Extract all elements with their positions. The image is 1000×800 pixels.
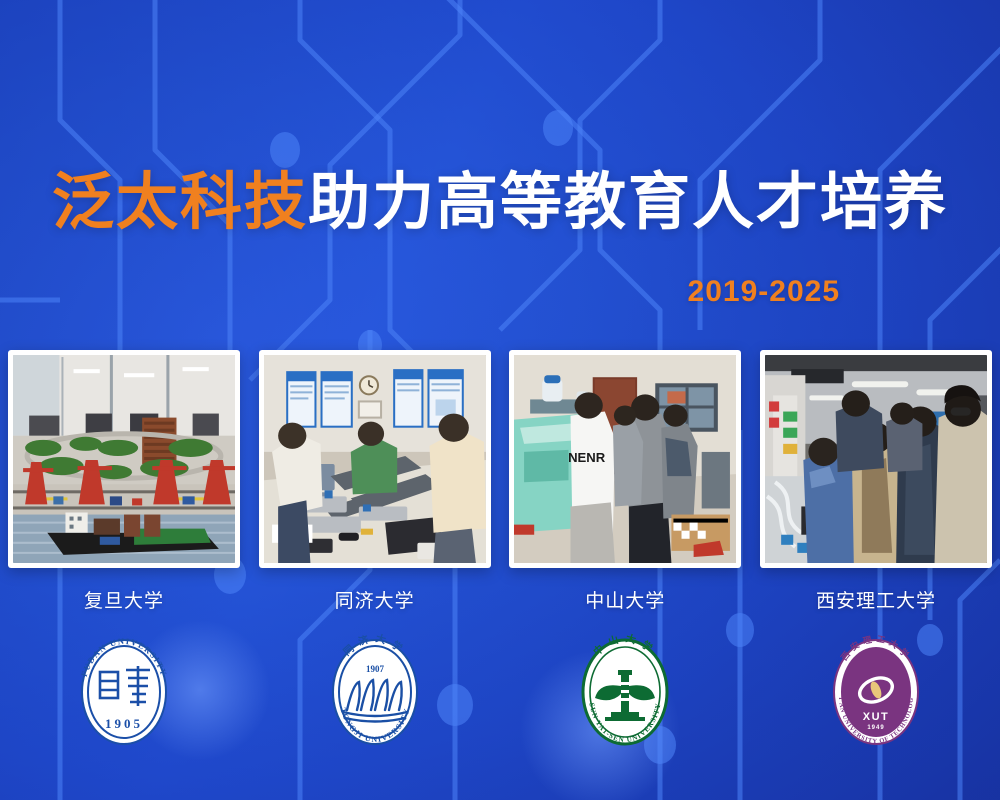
photo-card[interactable]: 复旦大学 [8,350,240,613]
logo-slot: 西安理工大学 XI'AN UNIVERSITY OF TECHNOLOGY XU… [760,632,992,752]
photo-caption: 西安理工大学 [760,586,992,613]
svg-text:1907: 1907 [366,664,385,674]
photo-card[interactable]: 同济大学 [259,350,491,613]
svg-text:1905: 1905 [105,716,143,731]
photo-caption: 同济大学 [259,586,491,613]
photo-frame [259,350,491,568]
svg-text:1949: 1949 [867,725,884,731]
poster-canvas: 泛太科技助力高等教育人才培养 2019-2025 [0,0,1000,800]
photo-card[interactable]: NENR [509,350,741,613]
subtitle-year-range: 2019-2025 [688,275,840,309]
photo-sysu-autonomous-car: NENR [514,355,736,563]
logo-xian-university-of-technology: 西安理工大学 XI'AN UNIVERSITY OF TECHNOLOGY XU… [822,632,930,752]
title-block: 泛太科技助力高等教育人才培养 [0,172,1000,234]
page-title: 泛太科技助力高等教育人才培养 [0,172,1000,234]
photo-tongji-lab [264,355,486,563]
photo-card-row: 复旦大学 [0,350,1000,613]
photo-fudan-port-model [13,355,235,563]
logo-fudan-university: FUDAN UNIVERSITY 1905 [70,632,178,752]
photo-card[interactable]: 西安理工大学 [760,350,992,613]
photo-frame [8,350,240,568]
svg-text:XUT: XUT [863,711,890,723]
logo-tongji-university: 同济大学 TONGJI UNIVERSITY 1907 [321,632,429,752]
svg-text:NENR: NENR [568,450,606,465]
photo-frame [760,350,992,568]
logo-slot: FUDAN UNIVERSITY 1905 [8,632,240,752]
photo-caption: 复旦大学 [8,586,240,613]
photo-xut-workshop [765,355,987,563]
brand-name: 泛太科技 [52,168,308,237]
logo-sun-yat-sen-university: 中山大学 SUN YAT-SEN UNIVERSITY [571,632,679,752]
logo-slot: 中山大学 SUN YAT-SEN UNIVERSITY [509,632,741,752]
title-rest: 助力高等教育人才培养 [308,168,948,237]
university-logo-row: FUDAN UNIVERSITY 1905 同济大学 TONGJI [0,632,1000,752]
photo-frame: NENR [509,350,741,568]
photo-caption: 中山大学 [509,586,741,613]
logo-slot: 同济大学 TONGJI UNIVERSITY 1907 [259,632,491,752]
